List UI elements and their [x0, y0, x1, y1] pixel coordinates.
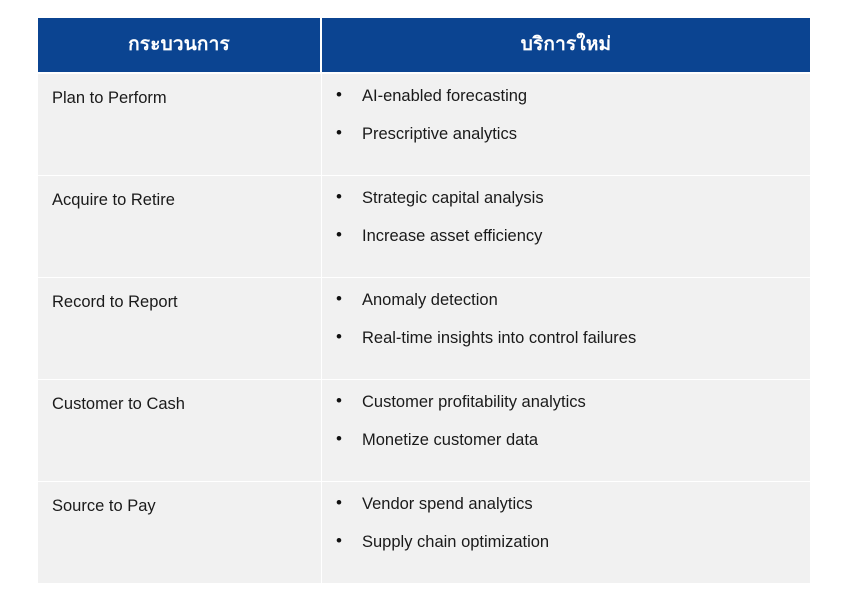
service-label: Prescriptive analytics: [362, 124, 802, 145]
table-row: Customer to Cash • Customer profitabilit…: [38, 379, 810, 481]
cell-process-name: Acquire to Retire: [38, 176, 322, 277]
services-bullet-list: • AI-enabled forecasting • Prescriptive …: [336, 86, 802, 144]
services-bullet-list: • Vendor spend analytics • Supply chain …: [336, 494, 802, 552]
bullet-dot-icon: •: [336, 86, 362, 104]
service-label: Monetize customer data: [362, 430, 802, 451]
cell-services: • Customer profitability analytics • Mon…: [322, 380, 810, 481]
list-item: • Prescriptive analytics: [336, 124, 802, 145]
services-bullet-list: • Customer profitability analytics • Mon…: [336, 392, 802, 450]
service-label: Vendor spend analytics: [362, 494, 802, 515]
services-bullet-list: • Strategic capital analysis • Increase …: [336, 188, 802, 246]
bullet-dot-icon: •: [336, 430, 362, 448]
cell-process-name: Record to Report: [38, 278, 322, 379]
bullet-dot-icon: •: [336, 328, 362, 346]
services-bullet-list: • Anomaly detection • Real-time insights…: [336, 290, 802, 348]
service-label: Customer profitability analytics: [362, 392, 802, 413]
list-item: • Customer profitability analytics: [336, 392, 802, 413]
table-header-row: กระบวนการ บริการใหม่: [38, 18, 810, 72]
service-label: AI-enabled forecasting: [362, 86, 802, 107]
bullet-dot-icon: •: [336, 226, 362, 244]
service-label: Supply chain optimization: [362, 532, 802, 553]
slide-canvas: กระบวนการ บริการใหม่ Plan to Perform • A…: [0, 0, 850, 600]
column-header-process: กระบวนการ: [38, 18, 322, 72]
service-label: Strategic capital analysis: [362, 188, 802, 209]
list-item: • Increase asset efficiency: [336, 226, 802, 247]
table-row: Record to Report • Anomaly detection • R…: [38, 277, 810, 379]
column-header-services-label: บริการใหม่: [521, 34, 612, 57]
cell-process-name: Customer to Cash: [38, 380, 322, 481]
cell-services: • Anomaly detection • Real-time insights…: [322, 278, 810, 379]
list-item: • Monetize customer data: [336, 430, 802, 451]
service-label: Increase asset efficiency: [362, 226, 802, 247]
bullet-dot-icon: •: [336, 392, 362, 410]
service-label: Anomaly detection: [362, 290, 802, 311]
bullet-dot-icon: •: [336, 532, 362, 550]
column-header-process-label: กระบวนการ: [128, 34, 230, 57]
bullet-dot-icon: •: [336, 124, 362, 142]
service-label: Real-time insights into control failures: [362, 328, 802, 349]
cell-services: • AI-enabled forecasting • Prescriptive …: [322, 74, 810, 175]
bullet-dot-icon: •: [336, 494, 362, 512]
list-item: • Strategic capital analysis: [336, 188, 802, 209]
list-item: • Supply chain optimization: [336, 532, 802, 553]
process-services-table: กระบวนการ บริการใหม่ Plan to Perform • A…: [38, 18, 810, 583]
cell-services: • Strategic capital analysis • Increase …: [322, 176, 810, 277]
bullet-dot-icon: •: [336, 188, 362, 206]
cell-process-name: Plan to Perform: [38, 74, 322, 175]
column-header-services: บริการใหม่: [322, 18, 810, 72]
table-body: Plan to Perform • AI-enabled forecasting…: [38, 72, 810, 583]
list-item: • AI-enabled forecasting: [336, 86, 802, 107]
bullet-dot-icon: •: [336, 290, 362, 308]
table-row: Acquire to Retire • Strategic capital an…: [38, 175, 810, 277]
table-row: Source to Pay • Vendor spend analytics •…: [38, 481, 810, 583]
table-row: Plan to Perform • AI-enabled forecasting…: [38, 72, 810, 175]
list-item: • Real-time insights into control failur…: [336, 328, 802, 349]
list-item: • Vendor spend analytics: [336, 494, 802, 515]
cell-process-name: Source to Pay: [38, 482, 322, 583]
cell-services: • Vendor spend analytics • Supply chain …: [322, 482, 810, 583]
list-item: • Anomaly detection: [336, 290, 802, 311]
